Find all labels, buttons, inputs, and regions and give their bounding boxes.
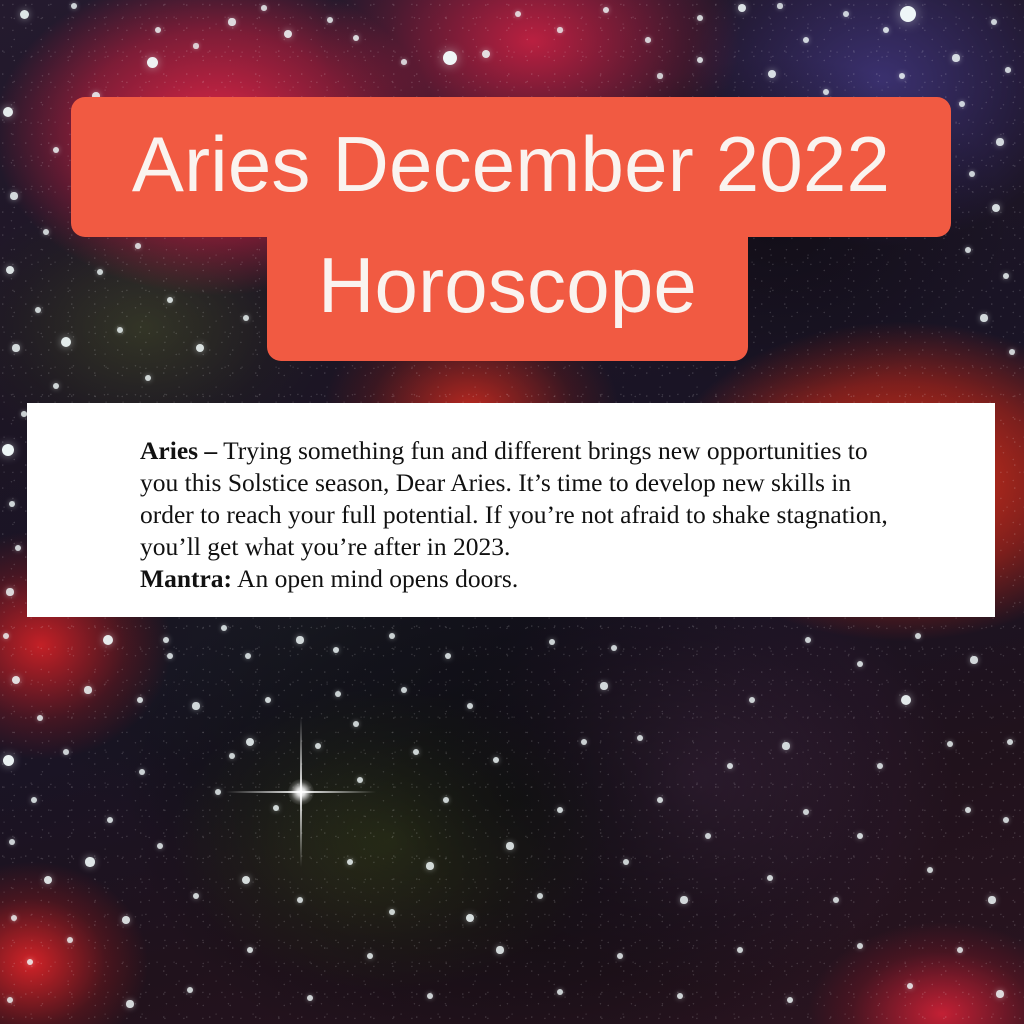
star-dot [900, 6, 916, 22]
star-dot [353, 721, 359, 727]
star-dot [1007, 739, 1013, 745]
star-dot [996, 990, 1003, 997]
star-dot [677, 993, 683, 999]
star-dot [284, 30, 292, 38]
star-dot [581, 739, 587, 745]
star-dot [67, 937, 73, 943]
star-dot [843, 11, 849, 17]
star-dot [315, 743, 321, 749]
star-dot [493, 757, 500, 764]
star-dot [823, 89, 829, 95]
star-dot [645, 37, 651, 43]
star-dot [243, 315, 249, 321]
star-dot [705, 833, 711, 839]
star-dot [246, 738, 254, 746]
star-dot [84, 686, 91, 693]
star-dot [877, 763, 883, 769]
star-dot [135, 243, 141, 249]
star-dot [53, 147, 60, 154]
star-dot [957, 947, 963, 953]
star-dot [12, 676, 20, 684]
star-dot [857, 833, 864, 840]
star-dot [193, 43, 198, 48]
star-dot [273, 805, 280, 812]
star-dot [61, 337, 71, 347]
star-dot [389, 633, 395, 639]
star-dot [988, 896, 995, 903]
star-dot [221, 625, 227, 631]
title-line-2: Horoscope [267, 225, 748, 361]
star-dot [557, 807, 564, 814]
star-dot [63, 749, 69, 755]
star-dot [327, 17, 333, 23]
star-dot [749, 697, 755, 703]
star-dot [600, 682, 607, 689]
star-dot [265, 697, 272, 704]
star-dot [192, 702, 199, 709]
star-dot [163, 637, 169, 643]
star-dot [155, 27, 161, 33]
star-dot [1003, 273, 1010, 280]
star-dot [803, 37, 809, 43]
star-dot [43, 229, 49, 235]
star-dot [245, 653, 251, 659]
star-dot [969, 171, 975, 177]
star-dot [85, 857, 94, 866]
star-dot [357, 777, 363, 783]
star-dot [31, 797, 37, 803]
star-dot [167, 297, 174, 304]
star-dot [3, 107, 13, 117]
star-dot [657, 73, 662, 78]
star-dot [307, 995, 313, 1001]
star-dot [737, 947, 743, 953]
star-dot [35, 307, 41, 313]
title-band-joint [267, 200, 748, 246]
star-dot [768, 70, 776, 78]
star-dot [445, 653, 451, 659]
star-dot [857, 943, 863, 949]
star-dot [805, 637, 811, 643]
star-dot [10, 192, 17, 199]
star-dot [261, 5, 267, 11]
star-dot [1009, 349, 1015, 355]
star-dot [92, 92, 100, 100]
star-dot [3, 755, 14, 766]
star-dot [27, 959, 34, 966]
star-dot [139, 769, 145, 775]
star-dot [1003, 817, 1009, 823]
star-dot [6, 588, 13, 595]
star-dot [242, 876, 250, 884]
star-dot [777, 3, 782, 8]
star-dot [901, 695, 911, 705]
star-dot [947, 741, 953, 747]
title-line-1: Aries December 2022 [71, 97, 951, 237]
star-dot [296, 636, 303, 643]
star-dot [537, 893, 543, 899]
star-dot [883, 27, 890, 34]
star-dot [443, 51, 457, 65]
star-dot [557, 989, 563, 995]
star-dot [147, 57, 158, 68]
star-dot [9, 501, 16, 508]
star-dot [9, 839, 15, 845]
star-dot [496, 946, 503, 953]
star-dot [637, 735, 643, 741]
star-dot [229, 753, 235, 759]
star-dot [549, 639, 555, 645]
star-dot [187, 987, 193, 993]
star-dot [623, 859, 629, 865]
star-dot [426, 862, 433, 869]
star-dot [117, 327, 123, 333]
star-dot [515, 11, 521, 17]
star-dot [927, 867, 933, 873]
star-dot [389, 909, 395, 915]
star-dot [857, 661, 864, 668]
star-dot [970, 656, 977, 663]
mantra-line: Mantra: An open mind opens doors. [140, 563, 907, 595]
star-dot [145, 375, 151, 381]
star-dot [680, 896, 687, 903]
star-dot [6, 266, 15, 275]
horoscope-card: Aries – Trying something fun and differe… [27, 403, 995, 617]
star-dot [37, 715, 43, 721]
star-dot [617, 953, 623, 959]
star-dot [122, 916, 130, 924]
star-dot [782, 742, 789, 749]
star-dot [12, 344, 19, 351]
star-dot [103, 635, 113, 645]
star-dot [215, 789, 221, 795]
star-dot [727, 763, 734, 770]
horoscope-body: Trying something fun and different bring… [140, 436, 888, 562]
star-dot [1005, 67, 1011, 73]
star-dot [611, 645, 617, 651]
star-dot [21, 411, 27, 417]
star-dot [803, 809, 809, 815]
star-dot [401, 59, 407, 65]
star-dot [787, 997, 794, 1004]
star-dot [367, 953, 373, 959]
star-dot [167, 653, 173, 659]
star-dot [126, 1000, 133, 1007]
star-dot [7, 997, 13, 1003]
star-dot [899, 73, 906, 80]
star-dot [980, 314, 987, 321]
star-dot [183, 117, 189, 123]
star-dot [657, 797, 663, 803]
star-dot [482, 50, 490, 58]
star-dot [71, 3, 77, 9]
star-dot [157, 843, 163, 849]
sign-label: Aries – [140, 436, 217, 465]
star-dot [915, 633, 921, 639]
star-dot [959, 101, 965, 107]
star-dot [907, 983, 914, 990]
star-dot [991, 19, 997, 25]
star-dot [97, 269, 103, 275]
star-dot [738, 4, 747, 13]
star-dot [427, 993, 433, 999]
horoscope-graphic: Aries December 2022 Horoscope Aries – Tr… [0, 0, 1024, 1024]
star-dot [347, 859, 354, 866]
star-dot [353, 35, 360, 42]
star-dot [413, 749, 420, 756]
star-dot [996, 138, 1003, 145]
star-dot [3, 633, 9, 639]
star-dot [603, 7, 609, 13]
four-point-star-flare-icon [300, 791, 302, 793]
star-dot [20, 10, 29, 19]
mantra-text: An open mind opens doors. [232, 564, 518, 593]
star-dot [965, 807, 972, 814]
star-dot [2, 444, 14, 456]
star-dot [333, 647, 340, 654]
star-dot [11, 915, 17, 921]
star-dot [401, 687, 407, 693]
flare-core [288, 779, 314, 805]
star-dot [799, 125, 805, 131]
star-dot [965, 247, 971, 253]
star-dot [833, 897, 839, 903]
star-dot [992, 204, 1000, 212]
star-dot [137, 697, 144, 704]
star-dot [193, 893, 199, 899]
star-dot [466, 914, 474, 922]
horoscope-paragraph: Aries – Trying something fun and differe… [140, 435, 907, 596]
mantra-label: Mantra: [140, 564, 232, 593]
star-dot [697, 57, 704, 64]
star-dot [697, 15, 703, 21]
star-dot [767, 875, 773, 881]
star-dot [15, 545, 21, 551]
star-dot [443, 797, 449, 803]
star-dot [228, 18, 235, 25]
star-dot [53, 383, 59, 389]
star-dot [506, 842, 513, 849]
star-dot [952, 54, 959, 61]
star-dot [335, 691, 341, 697]
star-dot [467, 703, 473, 709]
star-dot [117, 175, 123, 181]
star-dot [557, 27, 562, 32]
star-dot [247, 947, 254, 954]
star-dot [297, 897, 303, 903]
star-dot [44, 876, 52, 884]
star-dot [196, 344, 204, 352]
star-dot [107, 817, 114, 824]
